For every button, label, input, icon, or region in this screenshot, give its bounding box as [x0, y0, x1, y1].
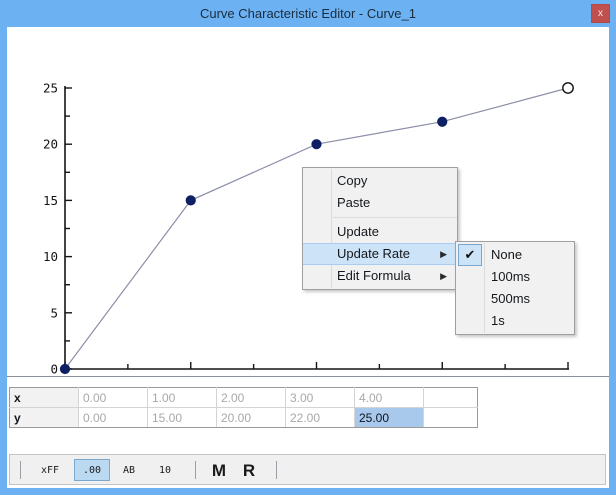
x-axis-tick-label: 4: [564, 375, 572, 376]
curve-point[interactable]: [312, 140, 321, 149]
table-cell[interactable]: 15.00: [148, 408, 217, 428]
submenu-item-500ms-label: 500ms: [491, 291, 530, 306]
submenu-item-500ms[interactable]: 500ms: [456, 288, 574, 310]
update-rate-submenu[interactable]: ✔ None 100ms 500ms 1s: [455, 241, 575, 335]
y-axis-tick-label: 25: [43, 81, 58, 96]
x-axis-tick-label: 1: [187, 375, 195, 376]
decimal-format-button[interactable]: .00: [74, 459, 110, 481]
menu-item-edit-formula-label: Edit Formula: [337, 268, 411, 283]
toolbar-separator-1: [20, 461, 21, 479]
chevron-right-icon: ▶: [440, 244, 447, 264]
integer-format-button[interactable]: 10: [150, 459, 180, 481]
menu-item-update[interactable]: Update: [303, 221, 457, 243]
menu-item-update-rate-label: Update Rate: [337, 246, 410, 261]
table-cell[interactable]: 1.00: [148, 388, 217, 408]
x-axis-tick-label: 2: [313, 375, 321, 376]
y-axis-tick-label: 5: [50, 305, 58, 320]
table-cell[interactable]: 3.00: [286, 388, 355, 408]
table-row: x0.001.002.003.004.00: [10, 388, 478, 408]
close-icon[interactable]: x: [591, 4, 610, 23]
submenu-item-1s[interactable]: 1s: [456, 310, 574, 332]
mirror-tool-button[interactable]: M: [206, 459, 232, 481]
table-cell[interactable]: 4.00: [355, 388, 424, 408]
text-format-button[interactable]: AB: [114, 459, 144, 481]
curve-point[interactable]: [186, 196, 195, 205]
menu-item-paste-label: Paste: [337, 195, 370, 210]
y-axis-tick-label: 10: [43, 249, 58, 264]
table-cell-empty[interactable]: [424, 408, 478, 428]
chevron-right-icon: ▶: [440, 265, 447, 287]
x-axis-tick-label: 0: [61, 375, 69, 376]
y-axis-tick-label: 15: [43, 193, 58, 208]
menu-item-edit-formula[interactable]: Edit Formula ▶: [303, 265, 457, 287]
hex-format-button[interactable]: xFF: [32, 459, 68, 481]
table-cell[interactable]: 2.00: [217, 388, 286, 408]
menu-item-copy[interactable]: Copy: [303, 170, 457, 192]
table-cell-selected[interactable]: 25.00: [355, 408, 424, 428]
table-row-header: x: [10, 388, 79, 408]
table-cell[interactable]: 0.00: [79, 408, 148, 428]
title-bar[interactable]: Curve Characteristic Editor - Curve_1 x: [0, 0, 616, 27]
table-cell[interactable]: 20.00: [217, 408, 286, 428]
x-axis-tick-label: 3: [438, 375, 446, 376]
curve-point[interactable]: [438, 117, 447, 126]
editor-window: Curve Characteristic Editor - Curve_1 x …: [0, 0, 616, 495]
table-cell[interactable]: 0.00: [79, 388, 148, 408]
y-axis-tick-label: 20: [43, 137, 58, 152]
table-cell[interactable]: 22.00: [286, 408, 355, 428]
submenu-item-100ms[interactable]: 100ms: [456, 266, 574, 288]
context-menu[interactable]: Copy Paste Update Update Rate ▶ Edit For…: [302, 167, 458, 290]
check-icon: ✔: [458, 244, 482, 266]
submenu-item-100ms-label: 100ms: [491, 269, 530, 284]
submenu-item-none-label: None: [491, 247, 522, 262]
y-axis-tick-label: 0: [50, 362, 58, 377]
menu-item-update-label: Update: [337, 224, 379, 239]
menu-item-update-rate[interactable]: Update Rate ▶: [303, 243, 457, 265]
submenu-item-1s-label: 1s: [491, 313, 505, 328]
toolbar-separator-3: [276, 461, 277, 479]
table-cell-empty[interactable]: [424, 388, 478, 408]
table-row: y0.0015.0020.0022.0025.00: [10, 408, 478, 428]
curve-point-selected[interactable]: [563, 83, 573, 93]
points-table: x0.001.002.003.004.00 y0.0015.0020.0022.…: [9, 387, 478, 428]
table-row-header: y: [10, 408, 79, 428]
menu-item-paste[interactable]: Paste: [303, 192, 457, 214]
toolbar-separator-2: [195, 461, 196, 479]
points-table-panel: x0.001.002.003.004.00 y0.0015.0020.0022.…: [7, 378, 609, 450]
window-title: Curve Characteristic Editor - Curve_1: [0, 0, 616, 27]
context-menu-separator: [333, 217, 457, 218]
curve-point[interactable]: [60, 364, 69, 373]
reset-tool-button[interactable]: R: [236, 459, 262, 481]
menu-item-copy-label: Copy: [337, 173, 367, 188]
format-toolbar: xFF .00 AB 10 M R: [9, 454, 606, 485]
